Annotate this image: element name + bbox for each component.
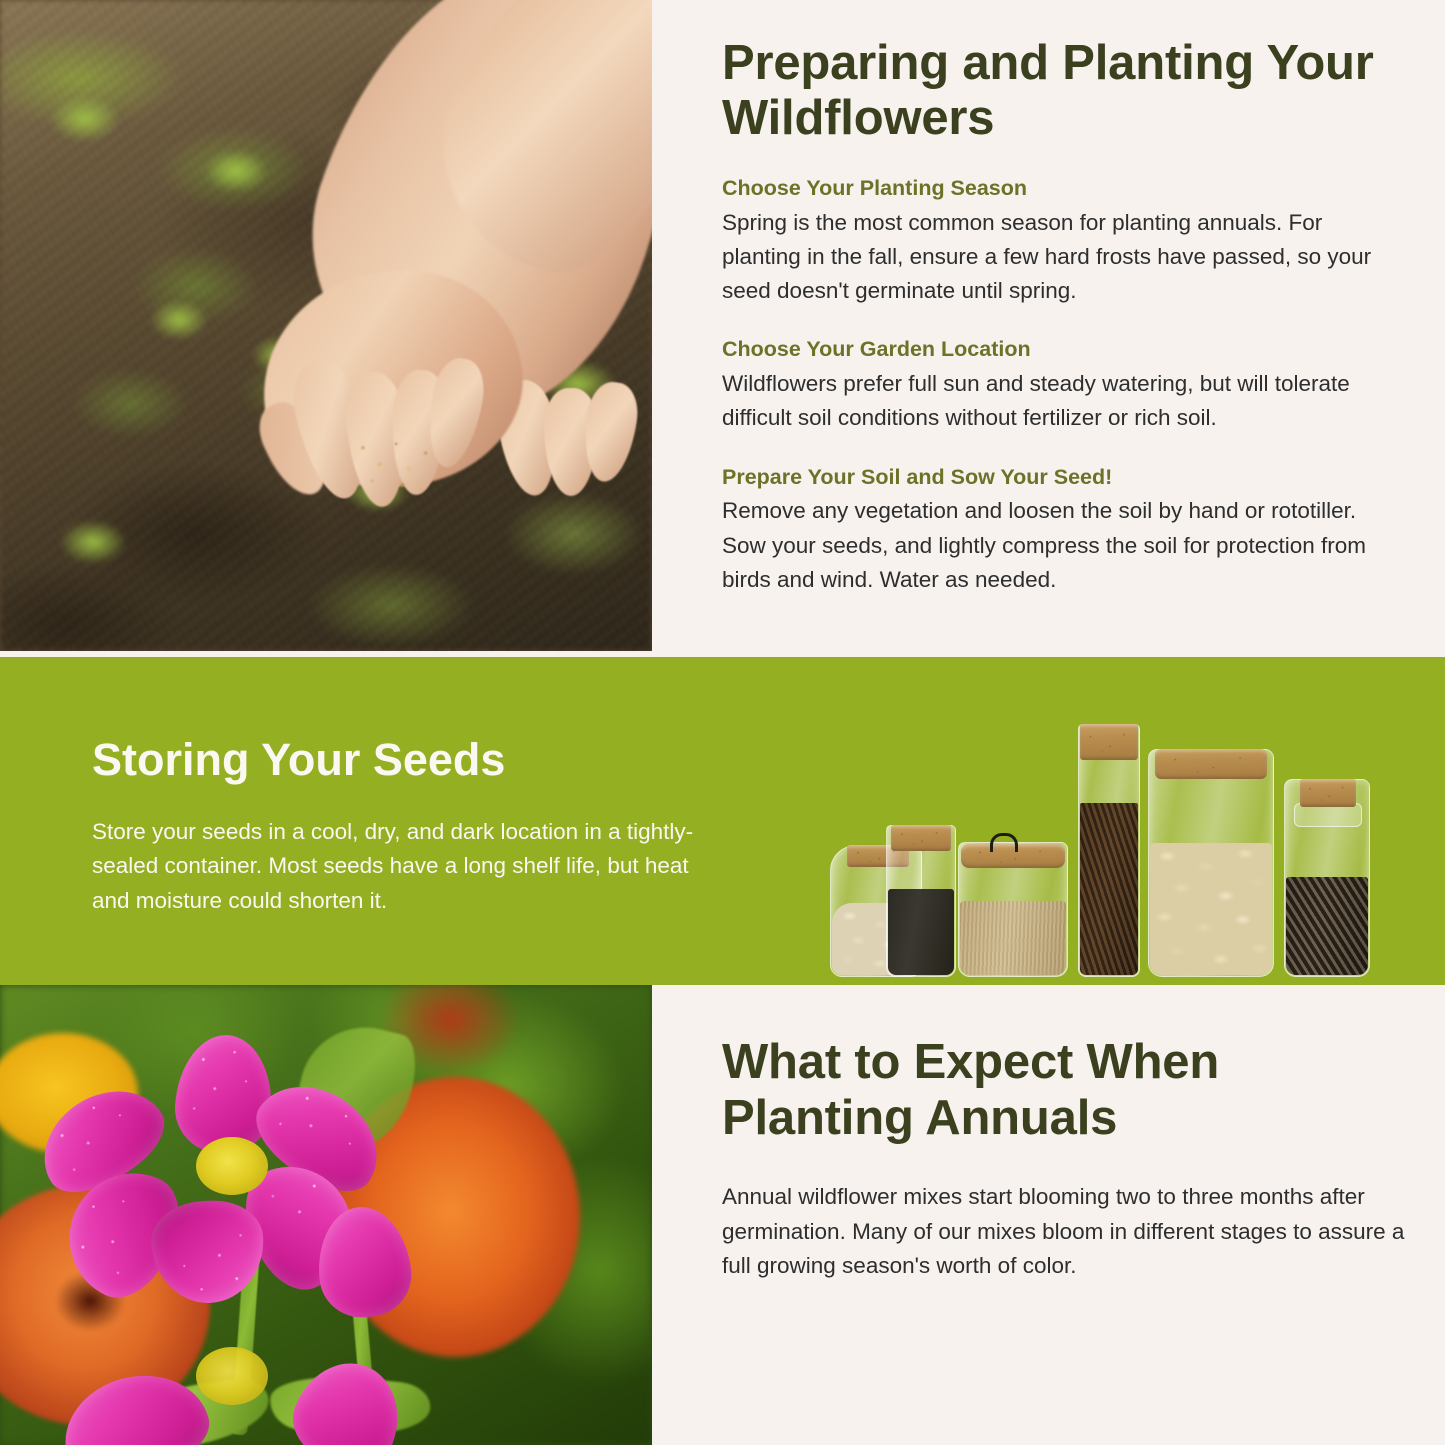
flower-center bbox=[196, 1137, 268, 1195]
subheading-planting-season: Choose Your Planting Season bbox=[722, 175, 1402, 203]
jar-contents bbox=[1080, 803, 1138, 975]
jar-pumpkin-seeds bbox=[1148, 749, 1274, 977]
storing-body: Store your seeds in a cool, dry, and dar… bbox=[92, 815, 712, 920]
jar-sunflower-seeds bbox=[1284, 779, 1370, 977]
sprout bbox=[60, 520, 126, 564]
cork-lid-icon bbox=[1155, 749, 1267, 779]
page-title: Preparing and Planting Your Wildflowers bbox=[722, 36, 1402, 147]
info-block-planting-season: Choose Your Planting Season Spring is th… bbox=[722, 175, 1402, 309]
wildflower-bloom-photo bbox=[0, 985, 652, 1445]
jar-contents bbox=[1150, 843, 1272, 975]
body-planting-season: Spring is the most common season for pla… bbox=[722, 206, 1402, 309]
cork-lid-icon bbox=[1300, 779, 1356, 807]
what-to-expect-body: Annual wildflower mixes start blooming t… bbox=[722, 1180, 1412, 1285]
sprout bbox=[205, 150, 267, 192]
jar-tall-tube-seeds bbox=[1078, 724, 1140, 977]
infographic-page: Preparing and Planting Your Wildflowers … bbox=[0, 0, 1445, 1445]
section-what-to-expect: What to Expect When Planting Annuals Ann… bbox=[0, 985, 1445, 1445]
body-garden-location: Wildflowers prefer full sun and steady w… bbox=[722, 367, 1402, 435]
body-prepare-soil: Remove any vegetation and loosen the soi… bbox=[722, 494, 1402, 597]
seed-jars-photo bbox=[824, 657, 1384, 985]
flower-center bbox=[196, 1347, 268, 1405]
section-storing-seeds: Storing Your Seeds Store your seeds in a… bbox=[0, 657, 1445, 985]
jar-contents bbox=[1286, 877, 1368, 975]
hand-sowing-seeds-photo bbox=[0, 0, 652, 651]
cork-lid-icon bbox=[891, 825, 951, 851]
subheading-garden-location: Choose Your Garden Location bbox=[722, 336, 1402, 364]
sprout bbox=[150, 300, 208, 340]
storing-text-column: Storing Your Seeds Store your seeds in a… bbox=[92, 735, 712, 919]
info-block-prepare-soil: Prepare Your Soil and Sow Your Seed! Rem… bbox=[722, 464, 1402, 598]
seeds-in-hand bbox=[352, 428, 444, 494]
jar-handle bbox=[990, 833, 1018, 852]
top-text-column: Preparing and Planting Your Wildflowers … bbox=[722, 36, 1402, 597]
bottom-text-column: What to Expect When Planting Annuals Ann… bbox=[722, 1035, 1412, 1284]
info-block-garden-location: Choose Your Garden Location Wildflowers … bbox=[722, 336, 1402, 435]
cork-lid-icon bbox=[1080, 724, 1138, 760]
jar-contents bbox=[888, 889, 954, 975]
jar-contents bbox=[960, 901, 1066, 975]
subheading-prepare-soil: Prepare Your Soil and Sow Your Seed! bbox=[722, 464, 1402, 492]
sprout bbox=[50, 96, 120, 142]
jar-black-seeds bbox=[886, 825, 956, 977]
storing-title: Storing Your Seeds bbox=[92, 735, 712, 785]
jar-ground-seed bbox=[958, 842, 1068, 977]
section-preparing-planting: Preparing and Planting Your Wildflowers … bbox=[0, 0, 1445, 657]
what-to-expect-title: What to Expect When Planting Annuals bbox=[722, 1035, 1412, 1147]
